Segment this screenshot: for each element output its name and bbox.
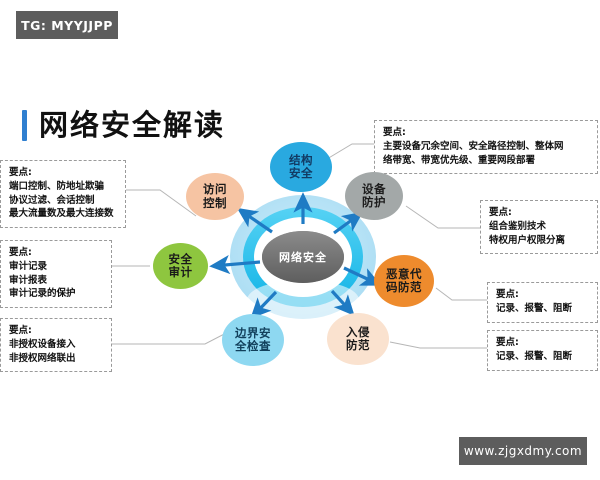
keypoint-heading: 要点: [489, 206, 590, 220]
keypoint-line: 端口控制、防地址欺骗 [9, 180, 118, 194]
keypoint-box-unauthorized-access: 要点: 非授权设备接入 非授权网络联出 [0, 318, 112, 372]
page-title: 网络安全解读 [22, 105, 225, 145]
bubble-structure-security[interactable]: 结构 安全 [270, 142, 332, 192]
bubble-access-control[interactable]: 访问 控制 [186, 173, 244, 220]
bubble-intrusion-prevention[interactable]: 入侵 防范 [327, 313, 389, 365]
bubble-line: 防护 [362, 196, 386, 209]
keypoint-line: 记录、报警、阻断 [496, 302, 590, 316]
keypoint-heading: 要点: [383, 126, 590, 140]
keypoint-line: 非授权设备接入 [9, 338, 104, 352]
keypoint-heading: 要点: [9, 246, 104, 260]
keypoint-box-port-control: 要点: 端口控制、防地址欺骗 协议过滤、会话控制 最大流量数及最大连接数 [0, 160, 126, 228]
keypoint-heading: 要点: [9, 166, 118, 180]
bubble-security-audit[interactable]: 安全 审计 [153, 243, 208, 289]
keypoint-box-audit: 要点: 审计记录 审计报表 审计记录的保护 [0, 240, 112, 308]
title-text: 网络安全解读 [39, 111, 225, 140]
bubble-line: 审计 [169, 266, 193, 279]
keypoint-heading: 要点: [9, 324, 104, 338]
keypoint-line: 审计记录 [9, 260, 104, 274]
center-hub-top [262, 231, 344, 283]
keypoint-line: 协议过滤、会话控制 [9, 194, 118, 208]
keypoint-line: 审计记录的保护 [9, 287, 104, 301]
keypoint-line: 特权用户权限分离 [489, 234, 590, 248]
keypoint-line: 组合鉴别技术 [489, 220, 590, 234]
keypoint-line: 主要设备冗余空间、安全路径控制、整体网 [383, 140, 590, 154]
bubble-line: 控制 [203, 197, 227, 210]
keypoint-line: 审计报表 [9, 274, 104, 288]
keypoint-line: 最大流量数及最大连接数 [9, 207, 118, 221]
bubble-line: 安全 [289, 167, 313, 180]
title-accent-bar [22, 110, 27, 141]
keypoint-box-malicious-code-log: 要点: 记录、报警、阻断 [487, 282, 598, 323]
bubble-boundary-security-check[interactable]: 边界安 全检查 [222, 314, 284, 366]
keypoint-heading: 要点: [496, 288, 590, 302]
keypoint-box-redundancy: 要点: 主要设备冗余空间、安全路径控制、整体网 络带宽、带宽优先级、重要网段部署 [374, 120, 598, 174]
bubble-line: 码防范 [386, 281, 422, 294]
keypoint-line: 记录、报警、阻断 [496, 350, 590, 364]
site-watermark: www.zjgxdmy.com [459, 437, 587, 465]
bubble-line: 访问 [203, 183, 227, 196]
keypoint-box-identification: 要点: 组合鉴别技术 特权用户权限分离 [480, 200, 598, 254]
keypoint-heading: 要点: [496, 336, 590, 350]
telegram-watermark: TG: MYYJJPP [16, 11, 118, 39]
bubble-line: 全检查 [235, 340, 271, 353]
bubble-line: 防范 [346, 339, 370, 352]
bubble-malicious-code-prevention[interactable]: 恶意代 码防范 [374, 255, 434, 307]
keypoint-box-intrusion-log: 要点: 记录、报警、阻断 [487, 330, 598, 371]
keypoint-line: 非授权网络联出 [9, 352, 104, 366]
keypoint-line: 络带宽、带宽优先级、重要网段部署 [383, 154, 590, 168]
slide-canvas: 网络安全解读 要点: 端口控制、防地址欺骗 协议过滤、会话控制 最大流量数及最大… [0, 0, 600, 480]
bubble-device-protection[interactable]: 设备 防护 [345, 172, 403, 220]
